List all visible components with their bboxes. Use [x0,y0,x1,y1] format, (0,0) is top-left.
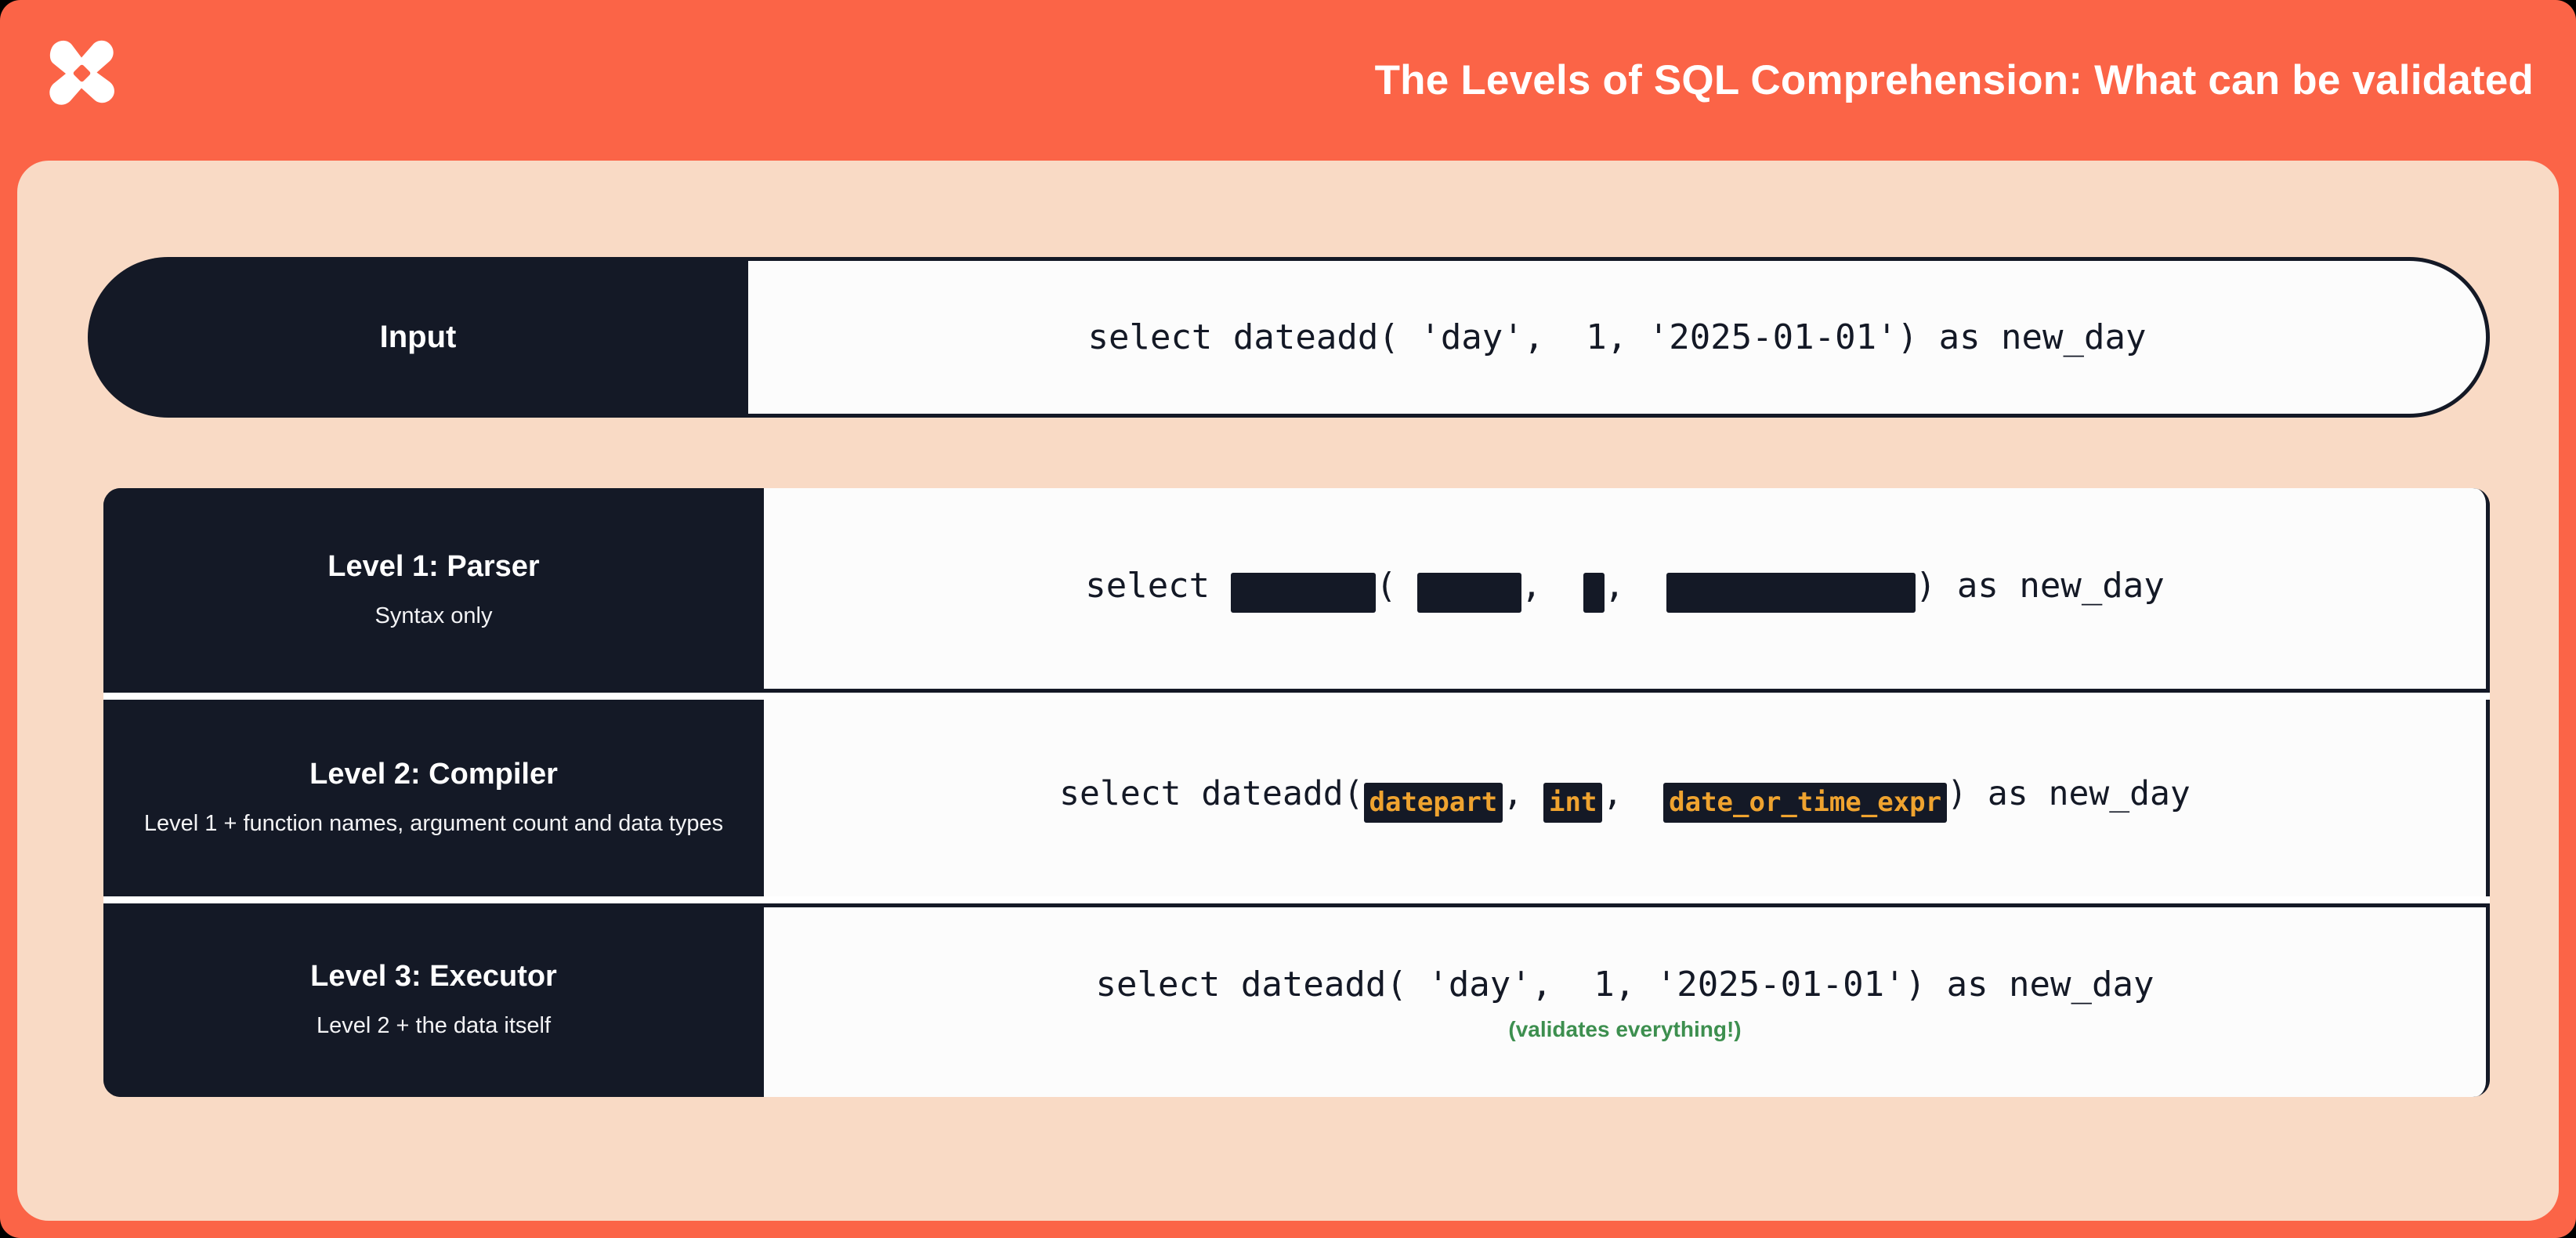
redacted-token: '2025-01-01' [1666,573,1916,612]
level-row: Level 1: Parser Syntax only select datea… [103,488,2490,693]
code-text: select dateadd( [1059,774,1363,813]
redacted-token: 'day' [1417,573,1521,612]
level-sql-code: select dateadd( 'day', 1, '2025-01-01') … [1095,963,2154,1006]
code-text: , [1503,774,1543,813]
content-panel: Input select dateadd( 'day', 1, '2025-01… [17,161,2559,1221]
level-subtitle: Syntax only [375,601,493,631]
redacted-token: dateadd [1231,573,1376,612]
level-sql-code: select dateadd( 'day', 1, '2025-01-01') … [1085,564,2165,612]
level-code-cell: select dateadd(datepart, int, date_or_ti… [764,700,2490,896]
type-token: date_or_time_expr [1663,783,1947,824]
input-row: Input select dateadd( 'day', 1, '2025-01… [88,257,2490,418]
brand-x-logo [36,35,127,126]
code-text: , [1602,774,1663,813]
code-text: , [1605,566,1666,606]
input-row-label: Input [88,257,748,418]
input-label-text: Input [380,320,457,355]
level-code-cell: select dateadd( 'day', 1, '2025-01-01') … [764,903,2490,1097]
input-row-code-cell: select dateadd( 'day', 1, '2025-01-01') … [748,257,2490,418]
level-code-cell: select dateadd( 'day', 1, '2025-01-01') … [764,488,2490,693]
level-title: Level 2: Compiler [309,758,558,792]
poster-root: The Levels of SQL Comprehension: What ca… [0,0,2576,1238]
level-label-cell: Level 2: Compiler Level 1 + function nam… [103,700,764,896]
level-row: Level 3: Executor Level 2 + the data its… [103,896,2490,1097]
level-title: Level 3: Executor [310,960,557,994]
validation-note: (validates everything!) [1508,1017,1741,1042]
levels-card: Level 1: Parser Syntax only select datea… [103,488,2490,1097]
redacted-token: 1 [1583,573,1605,612]
level-row: Level 2: Compiler Level 1 + function nam… [103,693,2490,896]
level-subtitle: Level 1 + function names, argument count… [144,809,723,838]
code-text: ) as new_day [1947,774,2191,813]
code-text: ( [1376,566,1417,606]
code-text: ) as new_day [1916,566,2165,606]
level-sql-code: select dateadd(datepart, int, date_or_ti… [1059,773,2191,824]
header-bar: The Levels of SQL Comprehension: What ca… [0,0,2576,161]
level-title: Level 1: Parser [327,550,539,585]
level-label-cell: Level 1: Parser Syntax only [103,488,764,693]
type-token: datepart [1364,783,1503,824]
type-token: int [1543,783,1602,824]
code-text: , [1521,566,1583,606]
code-text: select [1085,566,1230,606]
input-sql-code: select dateadd( 'day', 1, '2025-01-01') … [1087,316,2146,359]
code-text: select dateadd( 'day', 1, '2025-01-01') … [1095,965,2154,1005]
page-title: The Levels of SQL Comprehension: What ca… [1375,56,2538,104]
level-label-cell: Level 3: Executor Level 2 + the data its… [103,903,764,1097]
level-subtitle: Level 2 + the data itself [317,1011,551,1041]
